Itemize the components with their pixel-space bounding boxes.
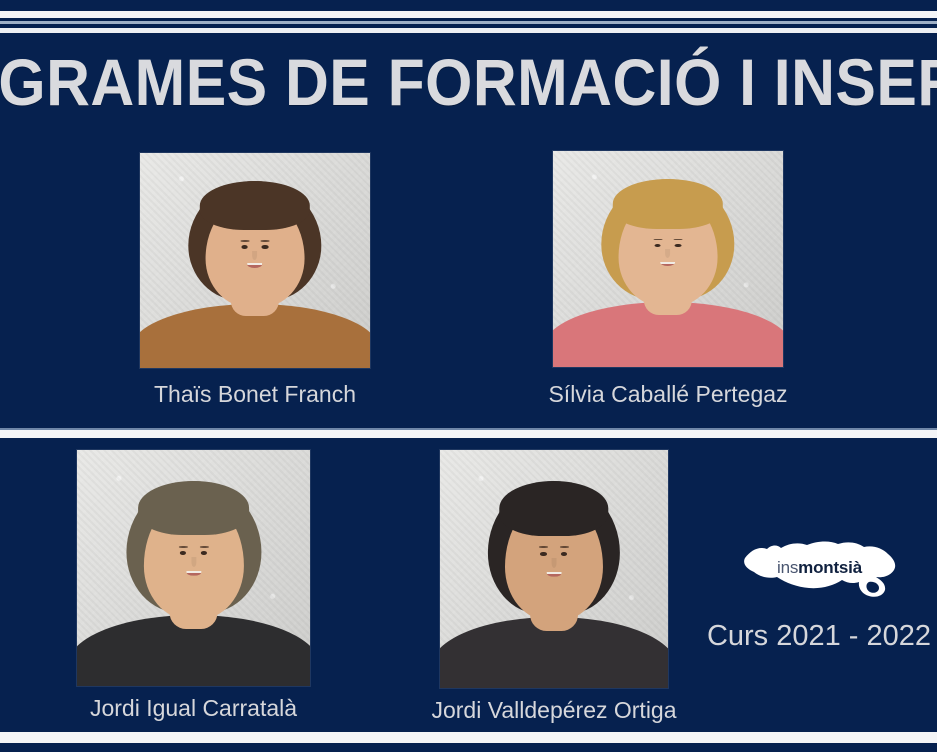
mouth-shape [661, 262, 676, 266]
eyebrow-left [240, 240, 249, 242]
eyebrow-right [200, 546, 209, 548]
person-card-3: Jordi Igual Carratalà [77, 450, 310, 686]
portrait-figure [77, 450, 310, 686]
eyebrow-left [178, 546, 187, 548]
nose-shape [253, 251, 258, 260]
insmontsia-logo: insmontsià [737, 536, 902, 606]
eyebrow-right [674, 239, 683, 241]
person-card-4: Jordi Valldepérez Ortiga [440, 450, 668, 688]
person-name-2: Sílvia Caballé Pertegaz [548, 381, 787, 408]
eyebrow-right [560, 546, 569, 548]
person-photo-4 [440, 450, 668, 688]
top-rule-hairline [0, 21, 937, 24]
logo-text-montsia: montsià [798, 558, 862, 577]
nose-shape [191, 557, 196, 567]
eye-right [561, 552, 567, 556]
top-rule-thin [0, 28, 937, 33]
person-photo-2 [553, 151, 783, 367]
eyebrow-left [653, 239, 662, 241]
eye-right [201, 551, 208, 555]
hair-fringe-shape [613, 179, 723, 229]
course-year-label: Curs 2021 - 2022 [706, 620, 932, 653]
middle-divider-rule [0, 430, 937, 438]
mouth-shape [186, 571, 201, 576]
hair-fringe-shape [499, 481, 608, 536]
nose-shape [552, 558, 557, 568]
eye-right [675, 244, 681, 247]
person-name-3: Jordi Igual Carratalà [90, 695, 297, 722]
person-name-1: Thaïs Bonet Franch [154, 381, 356, 408]
mouth-shape [248, 263, 263, 267]
eyebrow-right [261, 240, 270, 242]
nose-shape [666, 249, 671, 258]
top-rule-thick [0, 11, 937, 18]
person-card-2: Sílvia Caballé Pertegaz [553, 151, 783, 367]
eye-right [262, 245, 268, 248]
title-band: PROGRAMES DE FORMACIÓ I INSERCIÓ [0, 36, 937, 128]
eyebrow-left [539, 546, 548, 548]
person-name-4: Jordi Valldepérez Ortiga [431, 697, 676, 724]
portrait-figure [440, 450, 668, 688]
person-photo-3 [77, 450, 310, 686]
eye-left [179, 551, 186, 555]
page-title: PROGRAMES DE FORMACIÓ I INSERCIÓ [0, 49, 937, 115]
mouth-shape [547, 572, 562, 577]
logo-wordmark: insmontsià [737, 558, 902, 578]
portrait-figure [140, 153, 370, 368]
poster-root: PROGRAMES DE FORMACIÓ I INSERCIÓ [0, 0, 937, 752]
eye-left [540, 552, 546, 556]
eye-left [654, 244, 660, 247]
person-photo-1 [140, 153, 370, 368]
hair-fringe-shape [138, 481, 250, 535]
portrait-figure [553, 151, 783, 367]
logo-text-ins: ins [777, 558, 798, 577]
person-card-1: Thaïs Bonet Franch [140, 153, 370, 368]
eye-left [241, 245, 247, 248]
hair-fringe-shape [200, 181, 310, 230]
bottom-rule [0, 732, 937, 743]
